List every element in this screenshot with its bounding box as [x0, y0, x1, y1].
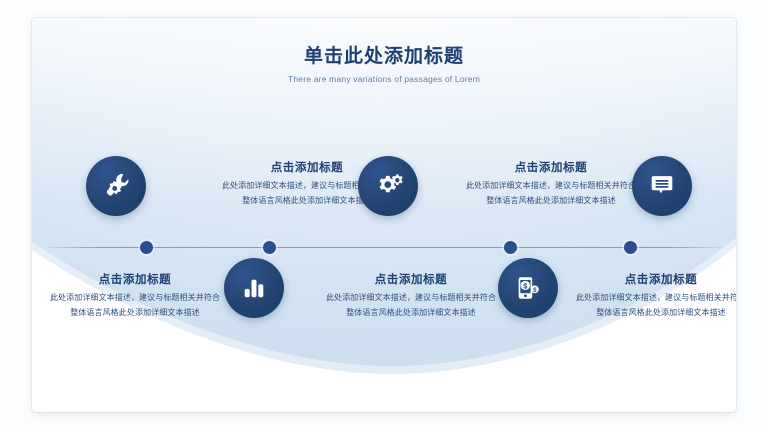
icon-circle-1[interactable] — [86, 156, 146, 216]
chat-bubble-icon — [647, 171, 677, 201]
wrench-gear-icon — [101, 171, 131, 201]
timeline-dot-3 — [504, 241, 517, 254]
item-body: 此处添加详细文本描述，建议与标题相关并符合整体语言风格此处添加详细文本描述 — [572, 291, 736, 320]
icon-circle-2[interactable] — [358, 156, 418, 216]
item-heading: 点击添加标题 — [46, 272, 224, 288]
page-subtitle: There are many variations of passages of… — [32, 74, 736, 84]
text-column-4: 点击添加标题 此处添加详细文本描述，建议与标题相关并符合整体语言风格此处添加详细… — [46, 272, 224, 320]
icon-circle-3[interactable] — [632, 156, 692, 216]
icon-circle-5[interactable]: $ $ — [498, 258, 558, 318]
slide-canvas: 单击此处添加标题 There are many variations of pa… — [0, 0, 768, 432]
title-block: 单击此处添加标题 There are many variations of pa… — [32, 44, 736, 84]
icon-circle-4[interactable] — [224, 258, 284, 318]
timeline-dot-1 — [140, 241, 153, 254]
text-column-6: 点击添加标题 此处添加详细文本描述，建议与标题相关并符合整体语言风格此处添加详细… — [572, 272, 736, 320]
gears-icon — [372, 170, 404, 202]
svg-text:$: $ — [533, 287, 537, 294]
item-heading: 点击添加标题 — [322, 272, 500, 288]
text-column-5: 点击添加标题 此处添加详细文本描述，建议与标题相关并符合整体语言风格此处添加详细… — [322, 272, 500, 320]
page-title: 单击此处添加标题 — [32, 44, 736, 70]
timeline-dot-4 — [624, 241, 637, 254]
bar-chart-icon — [241, 275, 267, 301]
timeline-dot-2 — [263, 241, 276, 254]
mobile-payment-icon: $ $ — [514, 274, 542, 302]
text-column-2: 点击添加标题 此处添加详细文本描述，建议与标题相关并符合整体语言风格此处添加详细… — [462, 160, 640, 208]
item-body: 此处添加详细文本描述，建议与标题相关并符合整体语言风格此处添加详细文本描述 — [462, 179, 640, 208]
item-body: 此处添加详细文本描述，建议与标题相关并符合整体语言风格此处添加详细文本描述 — [322, 291, 500, 320]
item-heading: 点击添加标题 — [572, 272, 736, 288]
slide-card: 单击此处添加标题 There are many variations of pa… — [32, 18, 736, 412]
item-body: 此处添加详细文本描述，建议与标题相关并符合整体语言风格此处添加详细文本描述 — [46, 291, 224, 320]
item-heading: 点击添加标题 — [462, 160, 640, 176]
